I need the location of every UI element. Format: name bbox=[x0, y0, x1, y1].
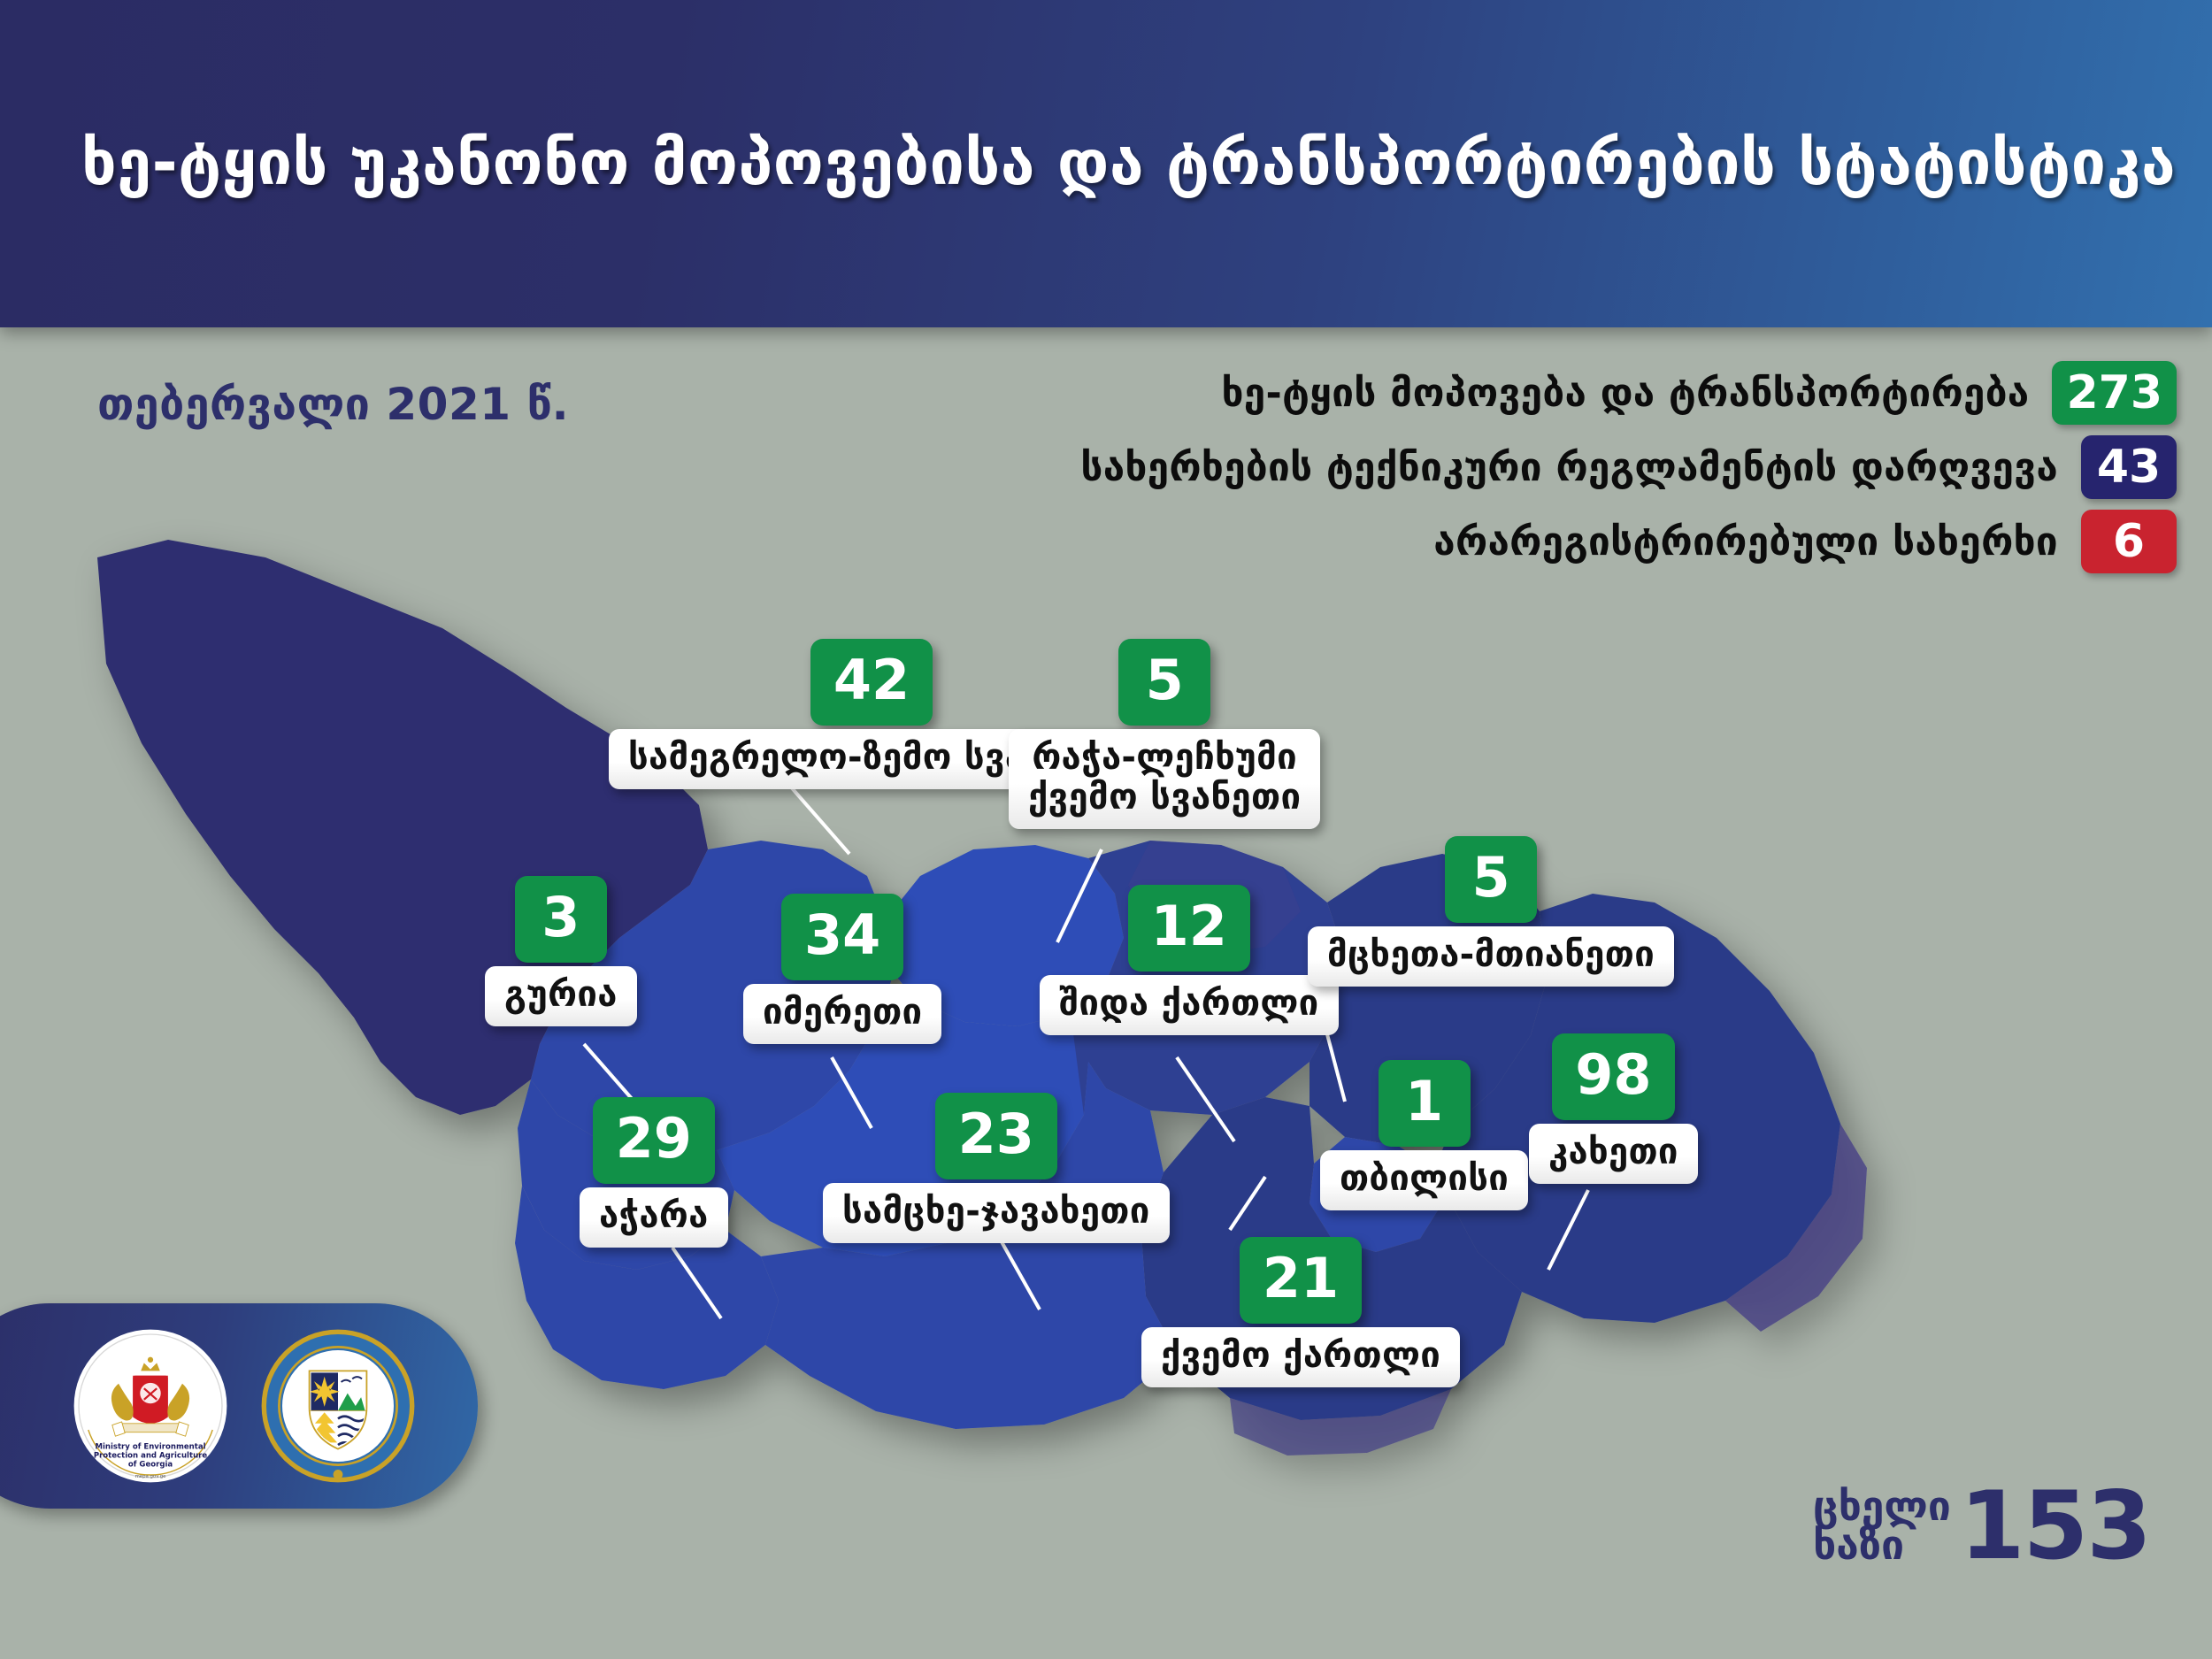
marker-label: იმერეთი bbox=[743, 984, 941, 1044]
environmental-supervision-logo bbox=[258, 1326, 418, 1486]
marker-guria[interactable]: 3 გურია bbox=[485, 876, 637, 1026]
legend-label-2: სახერხების ტექნიკური რეგლამენტის დარღვევ… bbox=[1080, 445, 2058, 490]
marker-value: 12 bbox=[1128, 885, 1250, 972]
legend-value-1: 273 bbox=[2052, 361, 2177, 425]
marker-label: აჭარა bbox=[580, 1187, 728, 1248]
marker-label: გურია bbox=[485, 966, 637, 1026]
marker-value: 98 bbox=[1552, 1033, 1674, 1120]
marker-label: მცხეთა-მთიანეთი bbox=[1308, 926, 1674, 987]
legend-value-3: 6 bbox=[2081, 510, 2177, 573]
marker-value: 29 bbox=[593, 1097, 715, 1184]
legend-label-1: ხე-ტყის მოპოვება და ტრანსპორტირება bbox=[1222, 371, 2030, 416]
ministry-line3: of Georgia bbox=[128, 1460, 173, 1469]
marker-imereti[interactable]: 34 იმერეთი bbox=[743, 894, 941, 1044]
legend: ხე-ტყის მოპოვება და ტრანსპორტირება 273 ს… bbox=[956, 361, 2177, 584]
legend-row-2: სახერხების ტექნიკური რეგლამენტის დარღვევ… bbox=[956, 435, 2177, 499]
marker-label: რაჭა-ლეჩხუმი ქვემო სვანეთი bbox=[1009, 729, 1320, 829]
marker-value: 5 bbox=[1445, 836, 1537, 923]
marker-value: 34 bbox=[781, 894, 903, 980]
marker-value: 1 bbox=[1379, 1060, 1471, 1147]
marker-label-line2: ქვემო სვანეთი bbox=[1028, 777, 1301, 818]
marker-samtskhe-javakheti[interactable]: 23 სამცხე-ჯავახეთი bbox=[823, 1093, 1170, 1243]
marker-value: 3 bbox=[515, 876, 607, 963]
header-banner: ხე-ტყის უკანონო მოპოვებისა და ტრანსპორტი… bbox=[0, 0, 2212, 327]
marker-label: შიდა ქართლი bbox=[1040, 975, 1339, 1035]
ministry-line2: Protection and Agriculture bbox=[94, 1452, 208, 1461]
marker-label: თბილისი bbox=[1320, 1150, 1528, 1210]
marker-shida-kartli[interactable]: 12 შიდა ქართლი bbox=[1040, 885, 1339, 1035]
ministry-line1: Ministry of Environmental bbox=[95, 1443, 205, 1452]
marker-label: კახეთი bbox=[1529, 1124, 1698, 1184]
hotline-word-1: ცხელი bbox=[1813, 1486, 1951, 1525]
ministry-site: mepa.gov.ge bbox=[135, 1474, 167, 1479]
marker-value: 5 bbox=[1118, 639, 1210, 726]
marker-racha-lechkhumi[interactable]: 5 რაჭა-ლეჩხუმი ქვემო სვანეთი bbox=[1009, 639, 1320, 829]
marker-value: 21 bbox=[1240, 1237, 1362, 1324]
hotline-word-2: ხაზი bbox=[1813, 1525, 1951, 1564]
marker-tbilisi[interactable]: 1 თბილისი bbox=[1320, 1060, 1528, 1210]
ministry-of-environment-logo: Ministry of Environmental Protection and… bbox=[71, 1326, 230, 1486]
marker-adjara[interactable]: 29 აჭარა bbox=[580, 1097, 728, 1248]
marker-kakheti[interactable]: 98 კახეთი bbox=[1529, 1033, 1698, 1184]
page-title: ხე-ტყის უკანონო მოპოვებისა და ტრანსპორტი… bbox=[81, 127, 2176, 199]
marker-label: ქვემო ქართლი bbox=[1141, 1327, 1460, 1387]
hotline-words: ცხელი ხაზი bbox=[1813, 1486, 1951, 1564]
hotline-number: 153 bbox=[1960, 1486, 2150, 1566]
legend-value-2: 43 bbox=[2081, 435, 2177, 499]
legend-row-1: ხე-ტყის მოპოვება და ტრანსპორტირება 273 bbox=[956, 361, 2177, 425]
marker-mtskheta-mtianeti[interactable]: 5 მცხეთა-მთიანეთი bbox=[1308, 836, 1674, 987]
marker-label-line1: რაჭა-ლეჩხუმი bbox=[1032, 737, 1297, 778]
legend-label-3: არარეგისტრირებული სახერხი bbox=[1433, 519, 2058, 565]
infographic-root: ხე-ტყის უკანონო მოპოვებისა და ტრანსპორტი… bbox=[0, 0, 2212, 1659]
marker-value: 42 bbox=[810, 639, 933, 726]
marker-value: 23 bbox=[935, 1093, 1057, 1179]
hotline: ცხელი ხაზი 153 bbox=[1813, 1486, 2150, 1566]
marker-kvemo-kartli[interactable]: 21 ქვემო ქართლი bbox=[1141, 1237, 1460, 1387]
legend-row-3: არარეგისტრირებული სახერხი 6 bbox=[956, 510, 2177, 573]
marker-label: სამცხე-ჯავახეთი bbox=[823, 1183, 1170, 1243]
date-label: თებერვალი 2021 წ. bbox=[97, 379, 569, 430]
logo-bar: Ministry of Environmental Protection and… bbox=[0, 1303, 478, 1509]
